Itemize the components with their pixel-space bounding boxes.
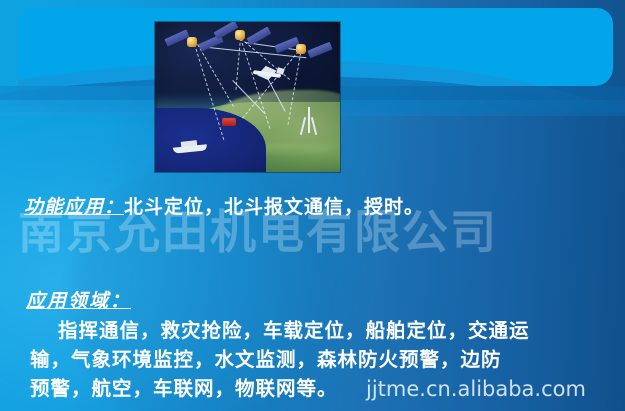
ground-station [300, 107, 318, 135]
function-application-text: 北斗定位，北斗报文通信，授时。 [124, 196, 424, 218]
application-area-body: 指挥通信，救灾抢险，车载定位，船舶定位，交通运 输，气象环境监控，水文监测，森林… [30, 316, 596, 403]
application-area-line: 指挥通信，救灾抢险，车载定位，船舶定位，交通运 [30, 316, 596, 345]
ship [173, 140, 207, 152]
application-area-line: 输，气象环境监控，水文监测，森林防火预警，边防 [30, 345, 596, 374]
function-application-line: 功能应用：北斗定位，北斗报文通信，授时。 [24, 192, 424, 219]
application-area-heading: 应用领域： [26, 286, 131, 313]
satellite-positioning-image [155, 22, 340, 172]
application-area-line: 预警，航空，车联网，物联网等。 [30, 374, 596, 403]
function-application-label: 功能应用： [24, 196, 124, 218]
slide-canvas: 南京允田机电有限公司 功能应用：北斗定位，北斗报文通信，授时。 应用领域： 指挥… [0, 0, 625, 411]
vehicle [222, 118, 236, 126]
airplane [251, 66, 283, 80]
